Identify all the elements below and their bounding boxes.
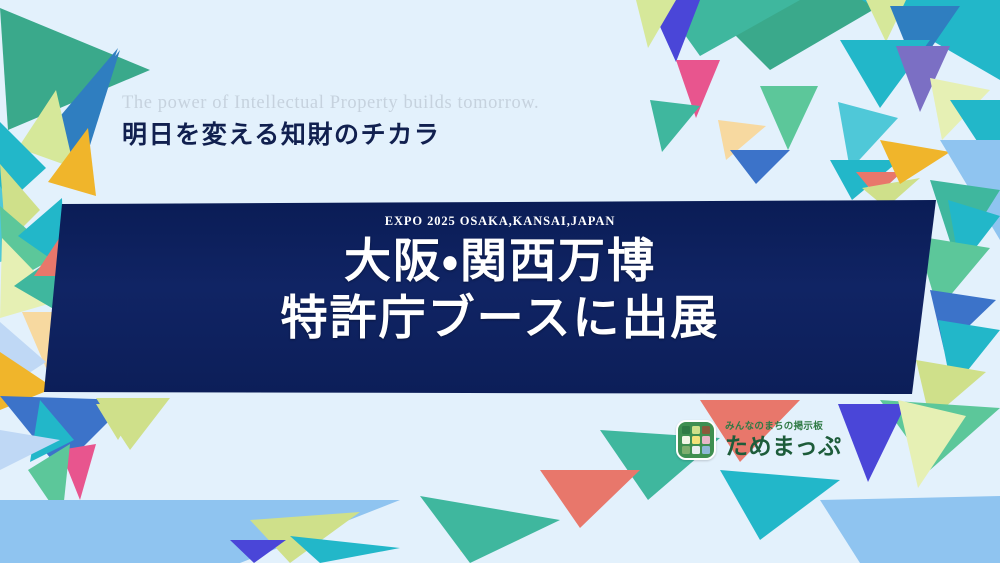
headline-line-1: 大阪・関西万博 xyxy=(344,235,656,290)
tri-bl-pink xyxy=(60,444,96,500)
tri-tr-lime xyxy=(636,0,676,48)
headline-band-content: EXPO 2025 OSAKA,KANSAI,JAPAN 大阪・関西万博 特許庁… xyxy=(0,196,1000,398)
brand-text: みんなのまちの掲示板 ためまっぷ xyxy=(725,422,842,458)
tri-bl-lime8 xyxy=(96,398,170,450)
tri-tr-teal xyxy=(660,0,800,56)
tri-r-cyan4 xyxy=(840,40,930,108)
tri-r-cyan7 xyxy=(830,160,900,200)
tri-br-lime6 xyxy=(898,400,966,488)
brand-tagline: みんなのまちの掲示板 xyxy=(725,422,842,432)
tagline-english: The power of Intellectual Property build… xyxy=(122,92,682,115)
tri-b-green8 xyxy=(420,496,560,563)
tri-r-peach2 xyxy=(718,120,766,160)
tri-r-teal2 xyxy=(862,0,1000,80)
tri-b-lime xyxy=(96,404,140,440)
tri-l-mint xyxy=(0,206,58,286)
tri-r-cyan5 xyxy=(950,100,1000,176)
logo-tile-8 xyxy=(692,446,700,454)
tri-b-coral4 xyxy=(540,470,640,528)
tri-b-paleyellow xyxy=(460,508,520,552)
tri-tr-indigo xyxy=(648,0,700,62)
brand-name: ためまっぷ xyxy=(725,435,842,458)
logo-tile-1 xyxy=(682,426,690,434)
tri-bl-cyan xyxy=(30,400,74,462)
tri-tr-green xyxy=(700,0,890,70)
tri-l-cyan2 xyxy=(0,186,38,262)
tri-tl-blue2 xyxy=(44,50,120,158)
tagline-block: The power of Intellectual Property build… xyxy=(122,92,682,153)
tri-b-lime7 xyxy=(250,512,360,563)
tri-bl-royal xyxy=(0,396,130,470)
tri-r-blue3 xyxy=(890,6,960,70)
tri-l-lime2 xyxy=(0,164,40,244)
tri-tr-pink xyxy=(676,60,720,118)
logo-tile-3 xyxy=(702,426,710,434)
tri-br-green6 xyxy=(880,400,1000,470)
logo-tile-4 xyxy=(682,436,690,444)
tri-l-lime xyxy=(18,90,74,168)
tri-r-lime2 xyxy=(866,0,906,42)
tri-r-coral2 xyxy=(856,172,902,196)
tri-r-green3 xyxy=(760,86,818,150)
tri-r-blue4 xyxy=(930,290,996,350)
logo-tile-9 xyxy=(702,446,710,454)
tri-br-indigo2 xyxy=(838,404,906,482)
tri-r-lime5 xyxy=(916,360,986,420)
tri-ml-pale xyxy=(0,430,60,470)
tri-bl-green xyxy=(28,444,70,520)
tri-l-sky xyxy=(0,322,46,392)
expo-label: EXPO 2025 OSAKA,KANSAI,JAPAN xyxy=(385,214,616,229)
tamemap-logo-icon xyxy=(676,420,716,460)
tri-r-sky2 xyxy=(940,140,1000,240)
headline-band: EXPO 2025 OSAKA,KANSAI,JAPAN 大阪・関西万博 特許庁… xyxy=(0,196,1000,398)
tri-tl-blue xyxy=(40,48,118,152)
tri-l-gold xyxy=(48,128,96,196)
tri-l-cyan xyxy=(0,122,46,210)
brand-lockup[interactable]: みんなのまちの掲示板 ためまっぷ xyxy=(676,420,842,460)
tri-r-gold3 xyxy=(880,140,950,184)
tri-r-royal2 xyxy=(730,150,790,184)
tri-r-purple xyxy=(896,46,950,112)
tri-br-cyan10 xyxy=(720,470,840,540)
logo-tile-2 xyxy=(692,426,700,434)
tagline-japanese: 明日を変える知財のチカラ xyxy=(122,120,682,153)
tri-br-sky3 xyxy=(820,496,1000,563)
tri-b-sky xyxy=(0,500,400,563)
headline-line-2: 特許庁ブースに出展 xyxy=(281,292,720,347)
logo-tile-7 xyxy=(682,446,690,454)
tri-b-indigo3 xyxy=(230,540,286,563)
tri-r-lime3 xyxy=(930,78,990,140)
tri-r-teal3 xyxy=(930,180,1000,260)
poster-canvas: The power of Intellectual Property build… xyxy=(0,0,1000,563)
logo-tile-6 xyxy=(702,436,710,444)
tri-bl-peach xyxy=(60,518,106,556)
tri-r-cyan8 xyxy=(948,200,1000,268)
tri-b-cyan11 xyxy=(290,536,400,563)
tri-r-cyan6 xyxy=(838,102,898,170)
tri-r-cyan9 xyxy=(938,320,1000,390)
logo-tile-5 xyxy=(692,436,700,444)
